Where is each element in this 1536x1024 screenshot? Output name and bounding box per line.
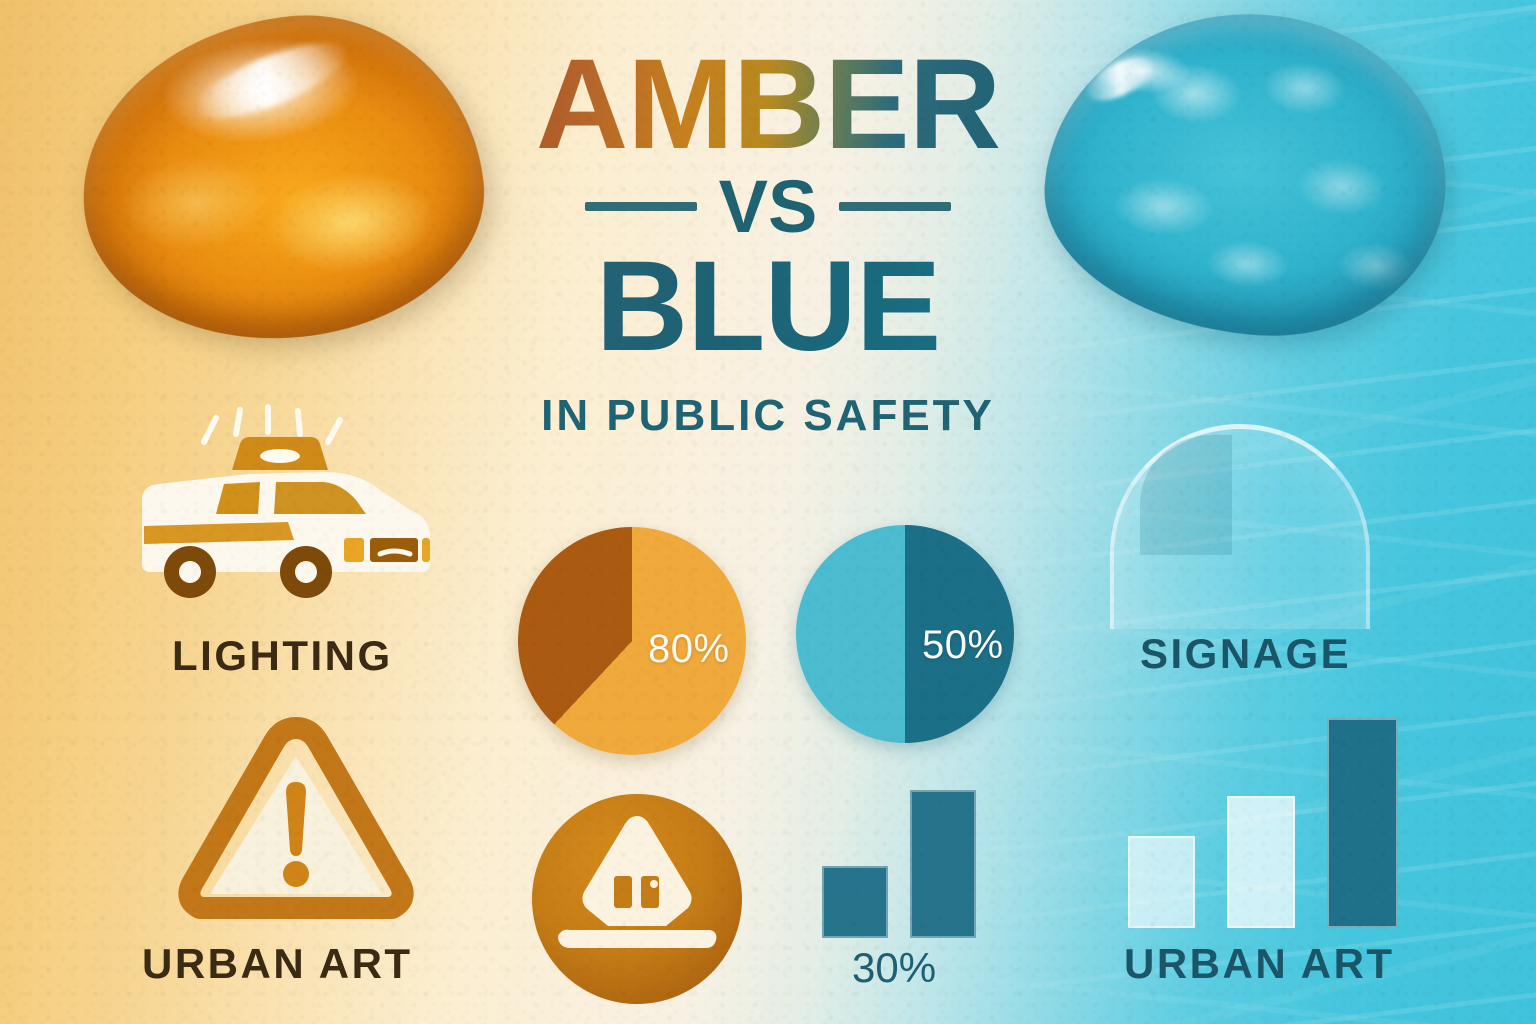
title-amber: AMBER — [488, 46, 1048, 164]
vs-word: VS — [719, 170, 818, 244]
label-urban-art-right: URBAN ART — [1124, 940, 1395, 988]
versus-row: VS — [488, 170, 1048, 244]
bar-item — [1128, 836, 1195, 928]
center-bar-chart — [822, 790, 982, 938]
police-vehicle-icon — [128, 404, 458, 614]
warning-triangle-icon — [176, 716, 416, 926]
bar-item — [1327, 718, 1398, 928]
bar-item — [822, 866, 888, 938]
blue-larimar-gemstone — [1035, 0, 1456, 347]
vs-rule-left — [585, 202, 697, 211]
label-urban-art-left: URBAN ART — [142, 940, 413, 988]
title-block: AMBER VS BLUE IN PUBLIC SAFETY — [488, 46, 1048, 441]
label-signage: SIGNAGE — [1140, 630, 1351, 678]
infographic-poster: AMBER VS BLUE IN PUBLIC SAFETY — [0, 0, 1536, 1024]
right-bar-chart — [1128, 718, 1398, 928]
subtitle: IN PUBLIC SAFETY — [488, 391, 1048, 441]
amber-pie-label: 80% — [648, 627, 730, 672]
bar-item — [1227, 796, 1294, 928]
label-lighting: LIGHTING — [172, 632, 393, 680]
vs-rule-right — [839, 202, 951, 211]
title-blue: BLUE — [488, 246, 1048, 368]
dome-watermark-icon — [1110, 424, 1370, 629]
bar-item — [910, 790, 976, 938]
center-bar-label: 30% — [852, 944, 936, 992]
beacon-badge-icon — [528, 790, 746, 1008]
amber-gemstone — [66, 0, 497, 358]
blue-pie-label: 50% — [922, 623, 1004, 668]
